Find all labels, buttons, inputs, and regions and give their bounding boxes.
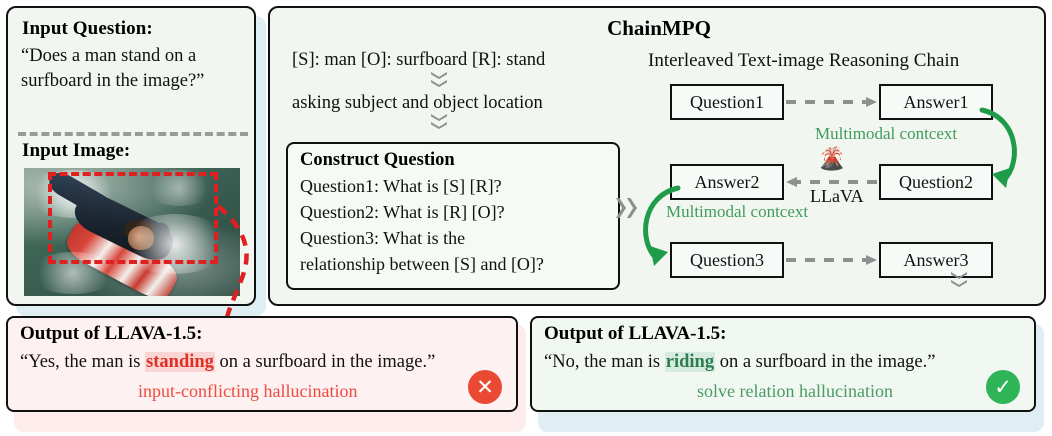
input-image-title: Input Image: xyxy=(22,140,130,162)
output-left-text-before: “Yes, the man is xyxy=(20,352,145,372)
output-right-note: solve relation hallucination xyxy=(697,381,893,402)
output-left-note: input-conflicting hallucination xyxy=(138,381,357,402)
volcano-icon: 🌋 xyxy=(818,148,845,170)
construct-question-1: Question1: What is [S] [R]? xyxy=(300,176,502,197)
output-left-panel: Output of LLAVA-1.5: “Yes, the man is st… xyxy=(6,316,518,412)
output-left-highlight: standing xyxy=(145,352,215,372)
output-left-text: “Yes, the man is standing on a surfboard… xyxy=(20,350,480,375)
asking-location-line: asking subject and object location xyxy=(292,93,543,114)
figure-canvas: Input Question: “Does a man stand on a s… xyxy=(0,0,1052,436)
chainmpq-title: ChainMPQ xyxy=(270,16,1048,41)
output-right-panel: Output of LLAVA-1.5: “No, the man is rid… xyxy=(530,316,1036,412)
panel-divider xyxy=(18,132,248,136)
check-badge-icon: ✓ xyxy=(986,370,1020,404)
input-question-title: Input Question: xyxy=(22,18,153,40)
cross-badge-icon: ✕ xyxy=(468,370,502,404)
output-right-highlight: riding xyxy=(665,352,715,372)
output-right-text-before: “No, the man is xyxy=(544,352,665,372)
multimodal-context-label-bottom: Multimodal contcext xyxy=(666,202,808,222)
construct-question-2: Question2: What is [R] [O]? xyxy=(300,202,505,223)
arrow-question1-to-answer1 xyxy=(786,96,877,108)
chevron-down-icon xyxy=(428,114,450,136)
sro-triplet-line: [S]: man [O]: surfboard [R]: stand xyxy=(292,50,545,71)
output-right-text: “No, the man is riding on a surfboard in… xyxy=(544,350,1014,375)
construct-question-3-line2: relationship between [S] and [O]? xyxy=(300,254,544,275)
chain-node-question1[interactable]: Question1 xyxy=(670,84,784,120)
construct-question-3-line1: Question3: What is the xyxy=(300,228,465,249)
output-left-text-after: on a surfboard in the image.” xyxy=(215,352,435,372)
chain-node-answer3[interactable]: Answer3 xyxy=(879,242,993,278)
construct-question-box: Construct Question Question1: What is [S… xyxy=(286,142,620,290)
red-dashed-annotation-box xyxy=(48,172,218,264)
arrow-question3-to-answer3 xyxy=(786,254,877,266)
green-arrow-answer1-to-question2 xyxy=(970,104,1030,194)
green-arrow-answer2-to-question3 xyxy=(630,182,690,272)
llava-model-label: LLaVA xyxy=(810,186,864,207)
input-question-text: “Does a man stand on a surfboard in the … xyxy=(21,44,247,94)
multimodal-context-label-top: Multimodal contcext xyxy=(815,124,957,144)
reasoning-chain-title: Interleaved Text-image Reasoning Chain xyxy=(648,50,959,72)
output-left-title: Output of LLAVA-1.5: xyxy=(20,323,202,345)
output-right-text-after: on a surfboard in the image.” xyxy=(715,352,935,372)
chainmpq-panel: ChainMPQ [S]: man [O]: surfboard [R]: st… xyxy=(268,6,1046,306)
chevron-down-icon xyxy=(948,272,970,294)
input-panel: Input Question: “Does a man stand on a s… xyxy=(6,6,256,306)
construct-question-title: Construct Question xyxy=(300,150,455,171)
output-right-title: Output of LLAVA-1.5: xyxy=(544,323,726,345)
chevron-down-icon xyxy=(428,72,450,94)
